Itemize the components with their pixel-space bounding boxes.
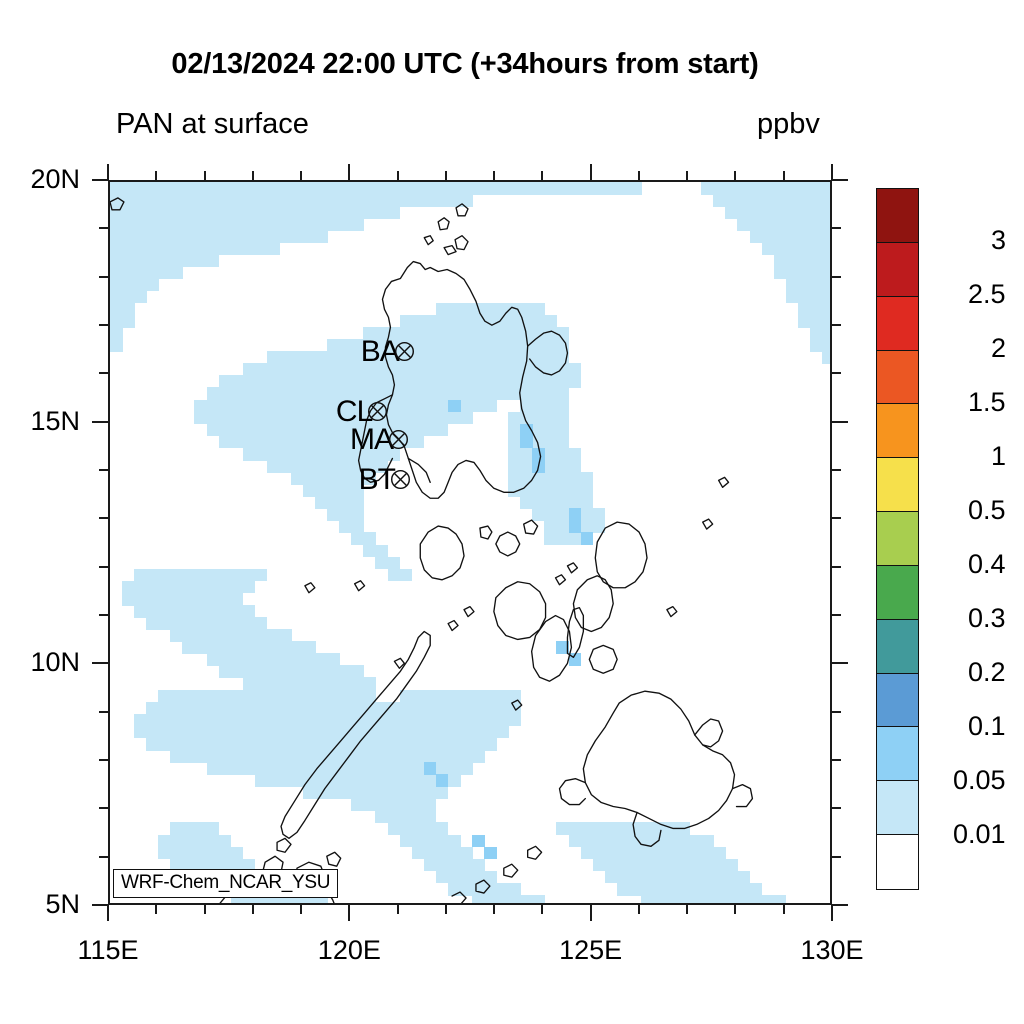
colorbar-band [877,458,918,512]
map-plot-area[interactable] [108,180,832,905]
colorbar[interactable] [876,188,919,890]
colorbar-band [877,674,918,728]
colorbar-band [877,351,918,405]
colorbar-band [877,781,918,835]
circled-x-marker-icon [367,401,388,422]
x-tick-label: 120E [279,935,419,966]
colorbar-tick-label: 0.4 [968,549,1006,580]
model-tag: WRF-Chem_NCAR_YSU [113,869,338,898]
colorbar-band [877,297,918,351]
colorbar-tick-label: 0.5 [968,495,1006,526]
field-label: PAN at surface [116,108,309,141]
colorbar-tick-label: 2 [991,333,1006,364]
x-tick-label: 130E [762,935,902,966]
y-tick-label: 5N [0,889,80,920]
colorbar-tick-label: 0.05 [953,765,1006,796]
station-label: MA [350,423,393,457]
colorbar-band [877,404,918,458]
colorbar-tick-label: 3 [991,225,1006,256]
y-tick-label: 15N [0,406,80,437]
circled-x-marker-icon [394,341,415,362]
colorbar-band [877,512,918,566]
y-tick-label: 10N [0,647,80,678]
colorbar-tick-label: 0.2 [968,657,1006,688]
colorbar-tick-label: 2.5 [968,279,1006,310]
units-label: ppbv [757,108,820,141]
colorbar-band [877,189,918,243]
colorbar-tick-label: 0.3 [968,603,1006,634]
coastline-overlay [110,182,830,903]
x-tick-label: 115E [38,935,178,966]
colorbar-band [877,727,918,781]
colorbar-tick-label: 1.5 [968,387,1006,418]
x-tick-label: 125E [521,935,661,966]
colorbar-band [877,835,918,889]
colorbar-tick-label: 0.01 [953,819,1006,850]
colorbar-tick-label: 1 [991,441,1006,472]
y-tick-label: 20N [0,164,80,195]
colorbar-band [877,620,918,674]
colorbar-band [877,566,918,620]
colorbar-band [877,243,918,297]
page-title: 02/13/2024 22:00 UTC (+34hours from star… [0,48,930,81]
colorbar-tick-label: 0.1 [968,711,1006,742]
circled-x-marker-icon [390,469,411,490]
circled-x-marker-icon [388,429,409,450]
